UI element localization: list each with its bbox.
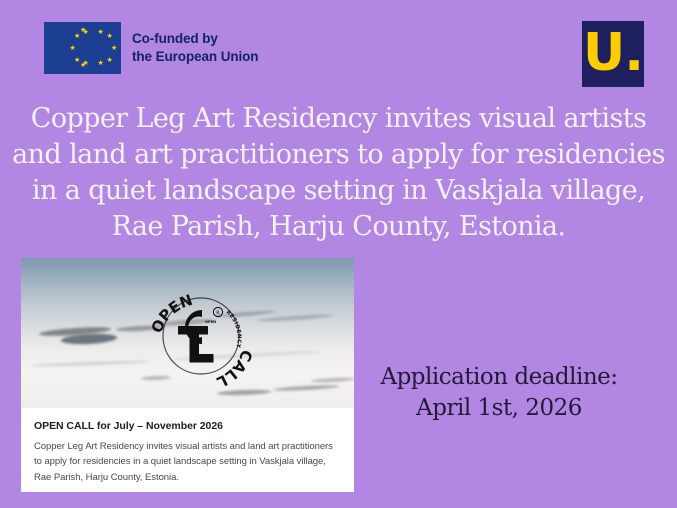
snow-streak bbox=[273, 384, 339, 391]
application-deadline: Application deadline: April 1st, 2026 bbox=[349, 362, 649, 424]
u-logo-icon: U. bbox=[582, 21, 644, 87]
headline-line-2: and land art practitioners to apply for … bbox=[8, 137, 669, 173]
card-body: OPEN CALL for July – November 2026 Coppe… bbox=[21, 408, 354, 492]
card-description: Copper Leg Art Residency invites visual … bbox=[34, 439, 341, 485]
snow-streak bbox=[257, 313, 333, 322]
headline-line-1: Copper Leg Art Residency invites visual … bbox=[8, 101, 669, 137]
eu-caption-line-1: Co-funded by bbox=[132, 30, 258, 48]
deadline-label: Application deadline: bbox=[349, 362, 649, 393]
card-photo: OPEN CALL RESIDENCY bbox=[21, 258, 354, 408]
headline: Copper Leg Art Residency invites visual … bbox=[0, 101, 677, 245]
svg-text:R: R bbox=[216, 310, 220, 316]
deadline-date: April 1st, 2026 bbox=[349, 393, 649, 424]
open-call-link-card[interactable]: OPEN CALL RESIDENCY bbox=[21, 258, 354, 492]
card-title: OPEN CALL for July – November 2026 bbox=[34, 420, 341, 432]
snow-streak bbox=[311, 377, 354, 383]
logo-bar: ★ ★ ★ ★ ★ ★ ★ ★ ★ ★ ★ ★ Co-funded by the… bbox=[0, 0, 677, 96]
u-logo-text: U. bbox=[583, 27, 643, 79]
eu-caption-line-2: the European Union bbox=[132, 48, 258, 66]
eu-caption: Co-funded by the European Union bbox=[132, 30, 258, 66]
svg-text:OPEN: OPEN bbox=[205, 320, 216, 324]
eu-flag-icon: ★ ★ ★ ★ ★ ★ ★ ★ ★ ★ ★ ★ bbox=[44, 22, 121, 74]
headline-line-4: Rae Parish, Harju County, Estonia. bbox=[8, 209, 669, 245]
svg-text:RESIDENCY: RESIDENCY bbox=[225, 310, 242, 349]
eu-cofunding-badge: ★ ★ ★ ★ ★ ★ ★ ★ ★ ★ ★ ★ Co-funded by the… bbox=[44, 22, 258, 74]
headline-line-3: in a quiet landscape setting in Vaskjala… bbox=[8, 173, 669, 209]
open-call-stamp-icon: OPEN CALL RESIDENCY bbox=[145, 280, 257, 392]
snow-streak bbox=[31, 360, 151, 367]
